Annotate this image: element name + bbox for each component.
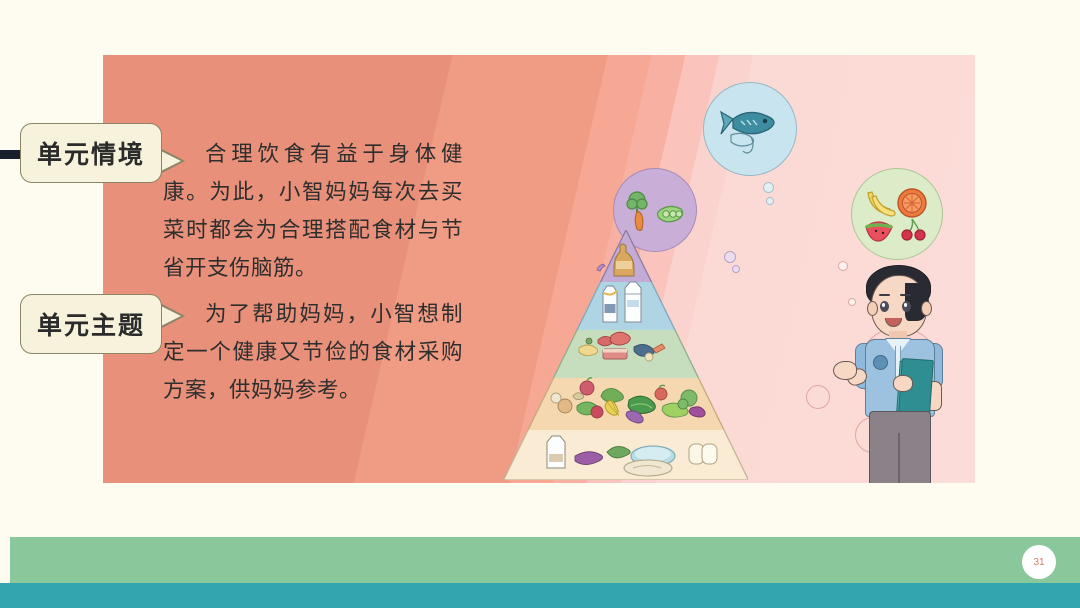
theme-paragraph: 为了帮助妈妈，小智想制定一个健康又节俭的食材采购方案，供妈妈参考。 [163,295,463,409]
food-pyramid [503,230,748,480]
eye-highlight-left [882,303,886,307]
pyramid-food-items [503,230,748,480]
situation-paragraph: 合理饮食有益于身体健康。为此，小智妈妈每次去买菜时都会为合理搭配食材与节省开支伤… [163,135,463,287]
callout-unit-theme[interactable]: 单元主题 [20,294,162,354]
ear-left [867,301,878,316]
bubble-dot [766,197,774,205]
hand-right [893,375,913,392]
left-accent-bar [0,150,22,159]
hand-left [833,361,857,380]
footer-teal-bar [0,583,1080,608]
callout-unit-situation-label: 单元情境 [37,135,145,171]
page-number-badge: 31 [1022,545,1056,579]
bubble-dot [806,385,830,409]
fish-icon [715,101,785,157]
eye-highlight-right [904,303,908,307]
boy-student [845,251,955,483]
school-badge [873,355,888,370]
callout-unit-theme-label: 单元主题 [37,306,145,342]
slide-canvas: 合理饮食有益于身体健康。为此，小智妈妈每次去买菜时都会为合理搭配食材与节省开支伤… [0,0,1080,608]
bubble-dot [763,182,774,193]
vegetables-icon [623,187,687,233]
fish-bubble [703,82,797,176]
page-number: 31 [1033,557,1044,568]
fruits-icon [860,183,934,245]
pants [869,411,931,483]
callout-unit-situation[interactable]: 单元情境 [20,123,162,183]
fruit-bubble [851,168,943,260]
leg-seam [898,433,900,483]
ear-right [921,301,932,316]
illustration-panel: 合理饮食有益于身体健康。为此，小智妈妈每次去买菜时都会为合理搭配食材与节省开支伤… [103,55,975,483]
footer-green-bar [10,537,1080,583]
